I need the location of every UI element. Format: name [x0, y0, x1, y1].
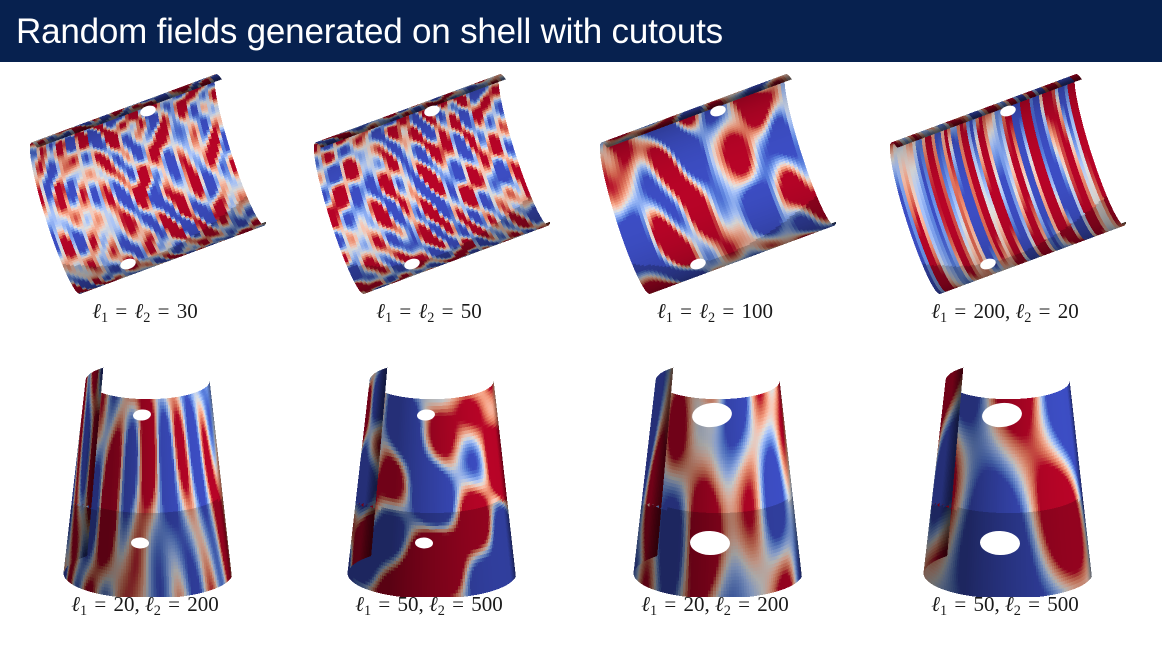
figure-caption-5: ℓ1 = 20, ℓ2 = 200 [0, 592, 290, 620]
shell-surface-2 [284, 64, 574, 304]
shell-outer-surface [642, 368, 792, 512]
shell-surface-4 [860, 64, 1150, 304]
shell-render-6 [284, 357, 574, 597]
figure-panel-7: ℓ1 = 20, ℓ2 = 200 [570, 357, 860, 649]
shell-surface-3 [570, 64, 860, 304]
figure-panel-8: ℓ1 = 50, ℓ2 = 500 [860, 357, 1150, 649]
figure-panel-3: ℓ1 = ℓ2 = 100 [570, 64, 860, 356]
shell-render-4 [860, 64, 1150, 304]
figure-caption-2: ℓ1 = ℓ2 = 50 [284, 299, 574, 327]
shell-surface-6 [284, 357, 574, 597]
figure-panel-1: ℓ1 = ℓ2 = 30 [0, 64, 290, 356]
figure-caption-1: ℓ1 = ℓ2 = 30 [0, 299, 290, 327]
slide-title-bar: Random fields generated on shell with cu… [0, 0, 1162, 62]
figure-grid: ℓ1 = ℓ2 = 30 ℓ1 = ℓ2 = 50 ℓ1 = ℓ2 = 100 … [0, 62, 1162, 657]
shell-surface-5 [0, 357, 290, 597]
shell-render-5 [0, 357, 290, 597]
shell-render-8 [860, 357, 1150, 597]
figure-panel-4: ℓ1 = 200, ℓ2 = 20 [860, 64, 1150, 356]
slide: Random fields generated on shell with cu… [0, 0, 1162, 657]
shell-outer-surface [932, 368, 1082, 512]
figure-caption-4: ℓ1 = 200, ℓ2 = 20 [860, 299, 1150, 327]
figure-panel-2: ℓ1 = ℓ2 = 50 [284, 64, 574, 356]
figure-panel-5: ℓ1 = 20, ℓ2 = 200 [0, 357, 290, 649]
shell-surface-7 [570, 357, 860, 597]
shell-surface-1 [0, 64, 290, 304]
shell-render-7 [570, 357, 860, 597]
figure-panel-6: ℓ1 = 50, ℓ2 = 500 [284, 357, 574, 649]
figure-row-1: ℓ1 = ℓ2 = 30 ℓ1 = ℓ2 = 50 ℓ1 = ℓ2 = 100 … [0, 64, 1162, 356]
figure-caption-3: ℓ1 = ℓ2 = 100 [570, 299, 860, 327]
figure-caption-6: ℓ1 = 50, ℓ2 = 500 [284, 592, 574, 620]
figure-caption-7: ℓ1 = 20, ℓ2 = 200 [570, 592, 860, 620]
shell-outer-surface [72, 368, 222, 512]
shell-render-3 [570, 64, 860, 304]
page-title: Random fields generated on shell with cu… [16, 14, 723, 49]
shell-render-1 [0, 64, 290, 304]
shell-surface-8 [860, 357, 1150, 597]
figure-caption-8: ℓ1 = 50, ℓ2 = 500 [860, 592, 1150, 620]
shell-render-2 [284, 64, 574, 304]
shell-outer-surface [356, 368, 506, 512]
figure-row-2: ℓ1 = 20, ℓ2 = 200 ℓ1 = 50, ℓ2 = 500 ℓ1 =… [0, 357, 1162, 649]
